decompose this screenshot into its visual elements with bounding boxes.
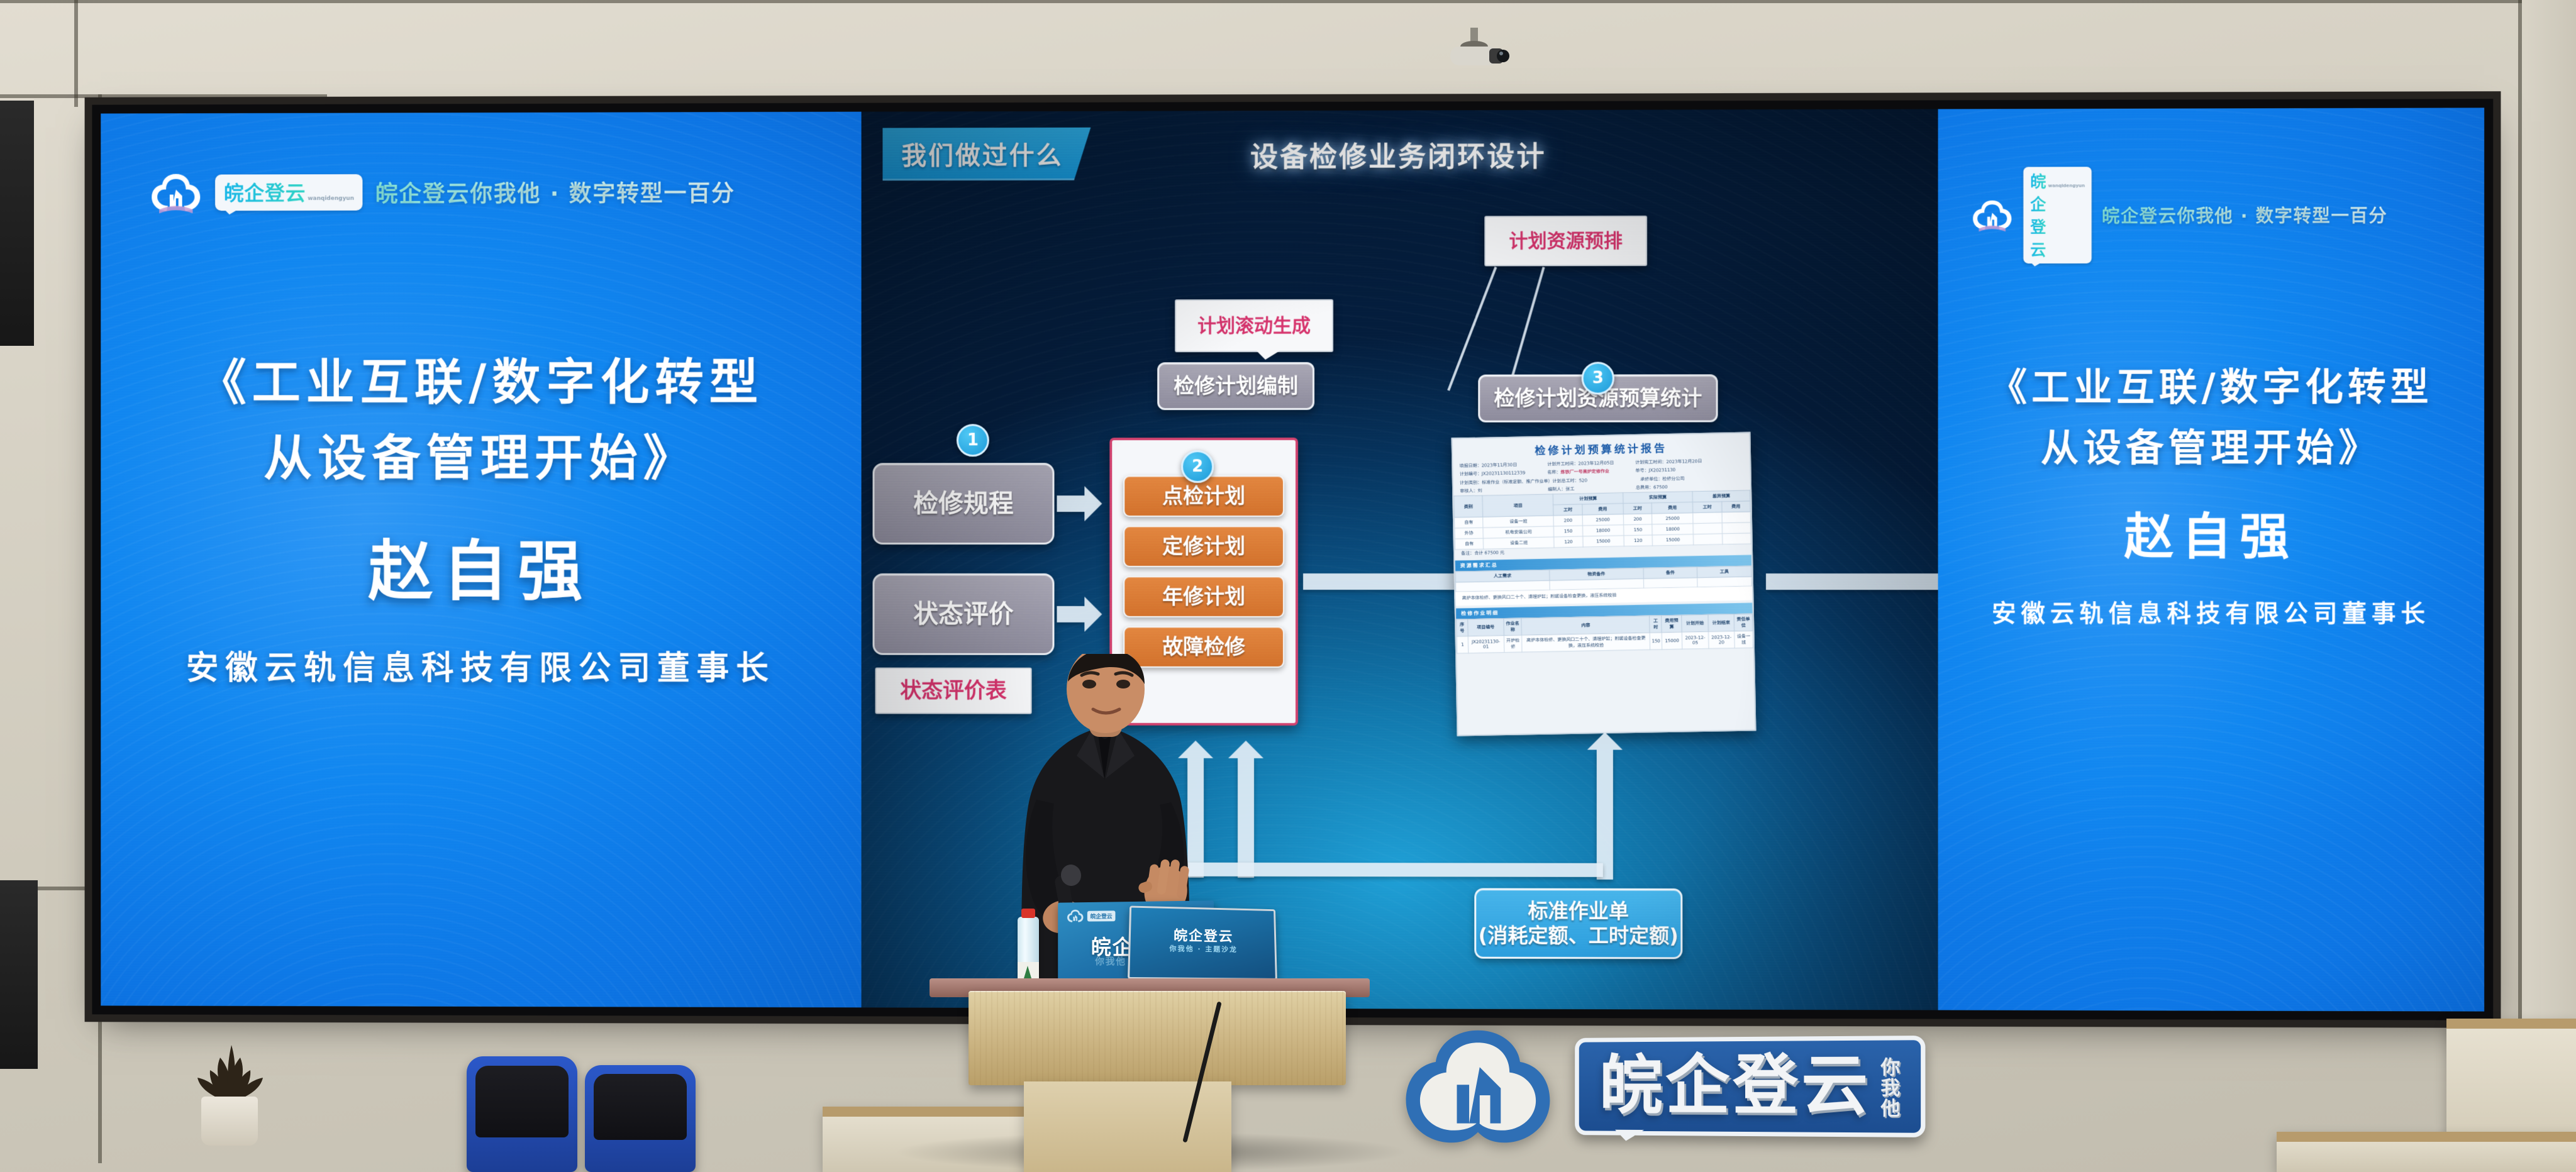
led-video-wall: 皖企登云 wanqidengyun 皖企登云你我他 · 数字转型一百分 《工业互… <box>101 108 2484 1011</box>
bottle-cap <box>1021 909 1035 918</box>
brand-chip-sub: wanqidengyun <box>308 196 354 202</box>
brand-chip-name: 皖企登云 <box>224 177 306 206</box>
potted-plant <box>192 1020 274 1146</box>
left-speaker-org: 安徽云轨信息科技有限公司董事长 <box>101 641 861 688</box>
name-card-sub-faint: 你我他 <box>1095 956 1126 967</box>
security-camera-icon <box>1434 28 1522 84</box>
step-badge-1: 1 <box>957 424 989 456</box>
cloud-house-logo-icon <box>1066 909 1084 924</box>
side-desk <box>2277 1132 2576 1172</box>
desk-edge <box>2446 1019 2576 1029</box>
floor-brand-sign: 皖企登云 你我他 <box>1402 1001 2069 1172</box>
right-title-line2: 从设备管理开始》 <box>1938 418 2485 479</box>
cloud-house-logo-icon <box>1402 1017 1553 1156</box>
wall-tile-seam <box>0 94 327 98</box>
right-speaker-name: 赵自强 <box>1938 497 2485 568</box>
step-badge-2: 2 <box>1181 450 1214 483</box>
cloud-house-logo-icon <box>1971 198 2014 233</box>
presentation-photo-scene: 皖企登云 wanqidengyun 皖企登云你我他 · 数字转型一百分 《工业互… <box>0 0 2576 1172</box>
name-card-chip: 皖企登云 <box>1087 910 1116 921</box>
brand-chip: 皖企登云 wanqidengyun <box>2023 167 2092 263</box>
right-speaker-org: 安徽云轨信息科技有限公司董事长 <box>1938 594 2485 629</box>
floor-sign-side-text: 你我他 <box>1878 1057 1899 1119</box>
left-panel-logo-row: 皖企登云 wanqidengyun 皖企登云你我他 · 数字转型一百分 <box>149 170 735 215</box>
left-title-line2: 从设备管理开始》 <box>101 421 861 497</box>
lectern-base <box>1024 1081 1231 1172</box>
brand-tagline: 皖企登云你我他 · 数字转型一百分 <box>2102 202 2388 228</box>
desk-edge <box>2277 1132 2576 1142</box>
floor-sign-brand: 皖企登云 <box>1599 1052 1871 1119</box>
lectern: 皖企登云 皖企登云 你我他 主题沙龙 皖企登云 你我他 · 主题沙龙 <box>930 956 1370 1172</box>
laptop-subtitle: 你我他 · 主题沙龙 <box>1130 943 1275 954</box>
floor-sign-plate: 皖企登云 你我他 <box>1575 1036 1925 1137</box>
left-speaker-name: 赵自强 <box>101 518 861 613</box>
brand-tagline: 皖企登云你我他 · 数字转型一百分 <box>375 175 735 209</box>
brand-chip-sub: wanqidengyun <box>2048 184 2085 189</box>
right-title-panel: 皖企登云 wanqidengyun 皖企登云你我他 · 数字转型一百分 《工业互… <box>1938 108 2485 1011</box>
left-title-line1: 《工业互联/数字化转型 <box>101 345 861 422</box>
right-title-line1: 《工业互联/数字化转型 <box>1938 357 2485 418</box>
left-panel-title-block: 《工业互联/数字化转型 从设备管理开始》 赵自强 安徽云轨信息科技有限公司董事长 <box>101 345 861 689</box>
wall-tile-seam <box>74 0 78 107</box>
right-panel-title-block: 《工业互联/数字化转型 从设备管理开始》 赵自强 安徽云轨信息科技有限公司董事长 <box>1938 357 2485 629</box>
wall-recess-panel <box>0 101 34 346</box>
wall-recess-panel <box>0 880 38 1069</box>
brand-chip: 皖企登云 wanqidengyun <box>215 174 363 211</box>
left-title-panel: 皖企登云 wanqidengyun 皖企登云你我他 · 数字转型一百分 《工业互… <box>101 112 861 1008</box>
brand-chip-name: 皖企登云 <box>2030 169 2046 260</box>
cloud-house-logo-icon <box>149 171 203 215</box>
step-badge-3: 3 <box>1582 362 1614 394</box>
audience-chair <box>585 1065 696 1172</box>
name-card-logo: 皖企登云 <box>1066 908 1115 923</box>
lectern-front-panel <box>969 991 1346 1085</box>
wall-tile-seam <box>0 0 2576 3</box>
laptop-screen: 皖企登云 你我他 · 主题沙龙 <box>1128 906 1277 980</box>
right-panel-logo-row: 皖企登云 wanqidengyun 皖企登云你我他 · 数字转型一百分 <box>1971 166 2387 263</box>
audience-chair <box>467 1056 577 1172</box>
plant-pot <box>201 1097 258 1146</box>
wall-panel-strip <box>2522 0 2576 1172</box>
